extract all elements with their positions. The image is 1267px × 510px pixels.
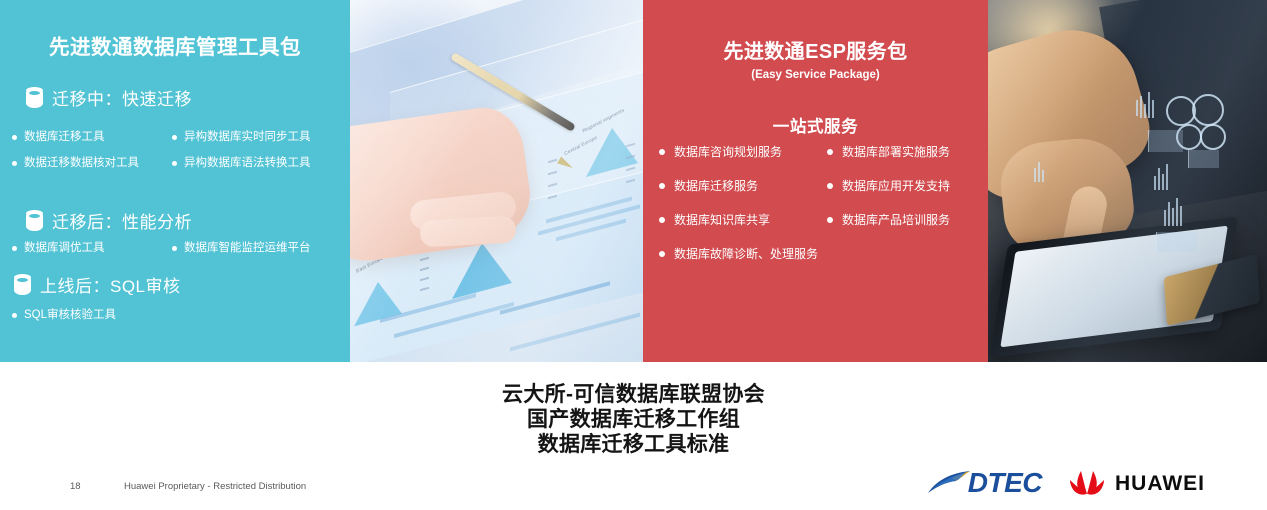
- list-item-label: 数据库应用开发支持: [842, 180, 950, 192]
- list-item-label: 数据库部署实施服务: [842, 146, 950, 158]
- list-item: 数据迁移数据核对工具: [12, 158, 172, 170]
- page-title-line-3: 数据库迁移工具标准: [0, 432, 1267, 457]
- list-item: 数据库知识库共享: [659, 214, 827, 226]
- huawei-flower-icon: [1068, 469, 1106, 497]
- page-title-line-2: 国产数据库迁移工作组: [0, 407, 1267, 432]
- bullet-dot-icon: [659, 149, 665, 155]
- analytics-charts-photo: Regional segments Central Europe West Eu…: [350, 0, 643, 362]
- page-title-line-1: 云大所-可信数据库联盟协会: [0, 382, 1267, 407]
- bullet-dot-icon: [827, 217, 833, 223]
- list-item: 数据库迁移服务: [659, 180, 827, 192]
- bullet-dot-icon: [827, 183, 833, 189]
- huawei-logo: HUAWEI: [1068, 469, 1205, 497]
- list-item-label: 数据库智能监控运维平台: [184, 243, 311, 255]
- section-heading-label: 迁移后：性能分析: [52, 208, 192, 233]
- tablet-touch-photo: [988, 0, 1267, 362]
- slide-banner: Regional segments Central Europe West Eu…: [0, 0, 1267, 362]
- section-heading-label: 上线后：SQL审核: [40, 272, 181, 297]
- list-item-label: 数据库产品培训服务: [842, 214, 950, 226]
- list-item-label: 数据库迁移工具: [24, 132, 105, 144]
- list-item: 异构数据库语法转换工具: [172, 158, 350, 170]
- list-item: SQL审核核验工具: [12, 310, 350, 322]
- bullet-dot-icon: [172, 246, 177, 251]
- list-item: 数据库调优工具: [12, 243, 172, 255]
- bullet-dot-icon: [12, 246, 17, 251]
- huawei-wordmark: HUAWEI: [1115, 473, 1205, 494]
- section-heading-migration: 迁移中：快速迁移: [26, 85, 192, 110]
- list-item: 数据库应用开发支持: [827, 180, 988, 192]
- esp-tagline: 一站式服务: [643, 113, 988, 137]
- bullet-dot-icon: [827, 149, 833, 155]
- toolkit-card: 先进数通数据库管理工具包 迁移中：快速迁移 数据库迁移工具 异构数据库实时同步工…: [0, 0, 350, 362]
- list-item-label: 异构数据库实时同步工具: [184, 132, 311, 144]
- list-item-label: 数据库迁移服务: [674, 180, 758, 192]
- footer-logos: DTEC HUAWEI: [926, 469, 1205, 497]
- list-item: 数据库产品培训服务: [827, 214, 988, 226]
- list-item: 数据库智能监控运维平台: [172, 243, 350, 255]
- bullet-dot-icon: [659, 217, 665, 223]
- section-heading-performance: 迁移后：性能分析: [26, 208, 192, 233]
- dtec-swoosh-icon: [926, 469, 972, 497]
- bullet-dot-icon: [172, 135, 177, 140]
- esp-service-list: 数据库咨询规划服务 数据库部署实施服务 数据库迁移服务 数据库应用开发支持 数据…: [659, 146, 988, 260]
- list-item: 数据库迁移工具: [12, 132, 172, 144]
- list-item: 数据库咨询规划服务: [659, 146, 827, 158]
- section-heading-sql-audit: 上线后：SQL审核: [14, 272, 181, 297]
- list-item-label: 异构数据库语法转换工具: [184, 158, 311, 170]
- bullet-dot-icon: [12, 161, 17, 166]
- bullet-dot-icon: [12, 135, 17, 140]
- list-item-label: 数据迁移数据核对工具: [24, 158, 139, 170]
- list-item-label: 数据库咨询规划服务: [674, 146, 782, 158]
- section-heading-label: 迁移中：快速迁移: [52, 85, 192, 110]
- bullet-dot-icon: [659, 183, 665, 189]
- toolkit-list-migration: 数据库迁移工具 异构数据库实时同步工具 数据迁移数据核对工具 异构数据库语法转换…: [12, 132, 350, 169]
- list-item-label: SQL审核核验工具: [24, 310, 116, 322]
- dtec-wordmark: DTEC: [968, 469, 1042, 497]
- toolkit-list-performance: 数据库调优工具 数据库智能监控运维平台: [12, 243, 350, 255]
- list-item: 数据库故障诊断、处理服务: [659, 248, 988, 260]
- footer-notice: 18 Huawei Proprietary - Restricted Distr…: [70, 482, 306, 492]
- toolkit-list-sql-audit: SQL审核核验工具: [12, 310, 350, 322]
- dtec-logo: DTEC: [926, 469, 1042, 497]
- esp-service-card: 先进数通ESP服务包 (Easy Service Package) 一站式服务 …: [643, 0, 988, 362]
- list-item: 异构数据库实时同步工具: [172, 132, 350, 144]
- bullet-dot-icon: [172, 161, 177, 166]
- database-icon: [14, 274, 31, 295]
- page-number: 18: [70, 482, 124, 492]
- page-title: 云大所-可信数据库联盟协会 国产数据库迁移工作组 数据库迁移工具标准: [0, 382, 1267, 457]
- list-item-label: 数据库调优工具: [24, 243, 105, 255]
- toolkit-title: 先进数通数据库管理工具包: [0, 38, 350, 59]
- list-item: 数据库部署实施服务: [827, 146, 988, 158]
- esp-subtitle: (Easy Service Package): [643, 69, 988, 81]
- bullet-dot-icon: [12, 313, 17, 318]
- esp-title: 先进数通ESP服务包: [643, 42, 988, 62]
- proprietary-notice: Huawei Proprietary - Restricted Distribu…: [124, 482, 306, 492]
- list-item-label: 数据库知识库共享: [674, 214, 770, 226]
- list-item-label: 数据库故障诊断、处理服务: [674, 248, 818, 260]
- database-icon: [26, 87, 43, 108]
- bullet-dot-icon: [659, 251, 665, 257]
- database-icon: [26, 210, 43, 231]
